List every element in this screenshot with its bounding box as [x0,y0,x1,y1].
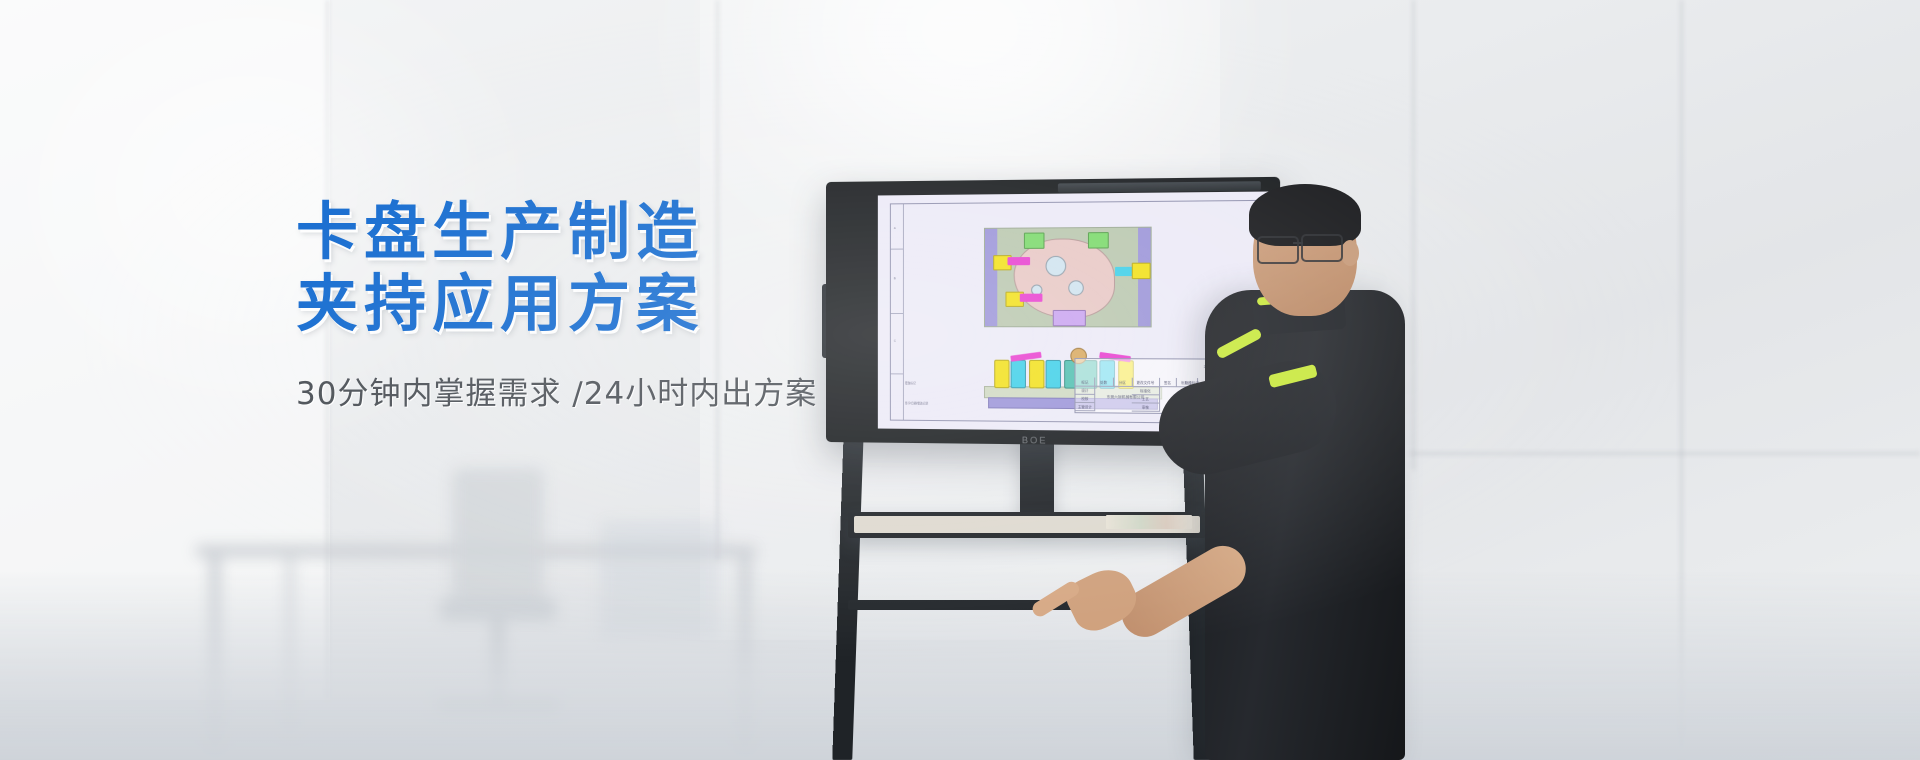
wall-seam-horizontal [1410,452,1920,455]
presenter [1145,170,1425,760]
cad-margin-column [891,204,904,419]
post-cyan-2 [1046,360,1061,389]
cad-margin-label-b: B [894,277,896,281]
cad-top-view [984,227,1152,328]
clamp-magenta-lower [1020,294,1043,302]
post-yellow-1 [994,360,1009,389]
bore-2 [1068,280,1084,295]
tb-row-lead: 主管设计 [1076,402,1096,411]
glasses-lens-right [1301,234,1343,262]
bore-1 [1046,256,1067,276]
presenter-ear [1341,240,1359,266]
tb-header-zone: 分区 [1113,378,1133,387]
cad-margin-label-a: A [894,226,896,230]
clamp-green-top-right [1088,232,1109,249]
glasses-lens-left [1257,236,1299,264]
workpiece-outline [1014,238,1115,318]
cad-company-name: 东莞六狱机械有限公司 [1107,395,1145,400]
post-cyan-1 [1011,360,1026,389]
floor [0,570,1920,760]
clamp-green-top-left [1024,233,1045,249]
presenter-sleeve-trim [1268,364,1318,388]
display-brand-logo: BOE [1022,435,1048,445]
banner-stage: 卡盘生产制造 夹持应用方案 30分钟内掌握需求 /24小时内出方案 A [0,0,1920,760]
presenter-torso [1205,290,1405,760]
clamp-purple-bottom [1053,310,1086,326]
fixture-rail-left [985,229,997,326]
cad-note-revision: 签字/日期/更改记录 [905,402,928,406]
cad-note-change-mark: 更改标记 [905,381,916,385]
tb-header-count: 处数 [1094,378,1114,387]
glasses-bridge [1293,242,1303,244]
cad-margin-label-c: C [894,339,896,343]
post-yellow-2 [1029,360,1044,389]
clamp-magenta-left [1008,257,1031,265]
